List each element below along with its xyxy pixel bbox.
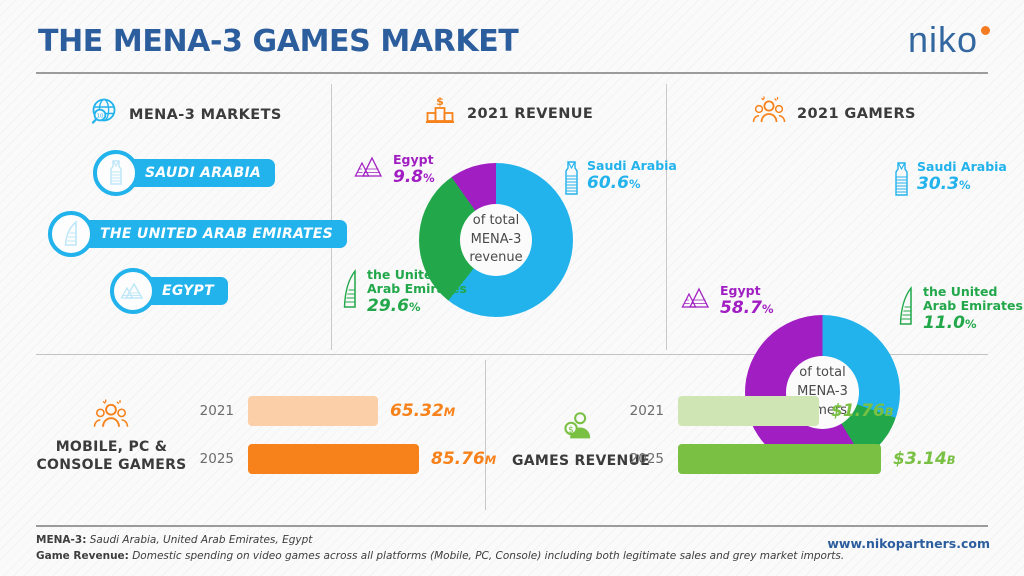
footer-line-1-text: Saudi Arabia, United Arab Emirates, Egyp… bbox=[86, 534, 312, 546]
gamers-legend-uae-name-2: Arab Emirates bbox=[923, 299, 1023, 313]
footer-url-link[interactable]: www.nikopartners.com bbox=[827, 536, 990, 551]
revenue-legend-uae-value: 29.6 bbox=[367, 296, 409, 316]
svg-text:10: 10 bbox=[97, 113, 104, 119]
gamers-bar-value-2025: 85.76 bbox=[431, 449, 485, 469]
gamers-bar-value-2021: 65.32 bbox=[390, 401, 444, 421]
revenue-center-line-1: of total bbox=[473, 212, 519, 231]
niko-logo: niko bbox=[908, 22, 990, 58]
orange-dot-icon bbox=[981, 26, 990, 35]
revenue-bar-track-2021 bbox=[678, 396, 819, 426]
gamers-bars-title-line-2: CONSOLE GAMERS bbox=[24, 456, 199, 474]
revenue-bar-row-2021: 2021 $1.76B bbox=[620, 396, 894, 426]
revenue-bar-unit-2025: B bbox=[947, 453, 956, 467]
revenue-legend-saudi-value: 60.6 bbox=[587, 173, 629, 193]
revenue-legend-uae-unit: % bbox=[409, 300, 421, 314]
gamers-bar-track-2021 bbox=[248, 396, 378, 426]
footer-line-1: MENA-3: Saudi Arabia, United Arab Emirat… bbox=[36, 534, 312, 546]
gamers-bar-year-2021: 2021 bbox=[190, 403, 234, 419]
revenue-bar-value-2025: $3.14 bbox=[893, 449, 947, 469]
revenue-legend-uae: the United Arab Emirates 29.6% bbox=[341, 268, 467, 317]
markets-panel-heading: 10 MENA-3 MARKETS bbox=[88, 97, 282, 132]
market-label-saudi-arabia: SAUDI ARABIA bbox=[123, 159, 275, 187]
gamers-bar-row-2021: 2021 65.32M bbox=[190, 396, 455, 426]
footer-line-2-text: Domestic spending on video games across … bbox=[129, 550, 844, 562]
pyramids-icon bbox=[352, 153, 386, 186]
header-divider bbox=[36, 72, 988, 74]
markets-panel-title: MENA-3 MARKETS bbox=[129, 107, 282, 123]
revenue-legend-egypt: Egypt 9.8% bbox=[352, 153, 435, 187]
gamers-legend-uae-unit: % bbox=[965, 317, 977, 331]
kingdom-tower-icon bbox=[563, 159, 580, 202]
revenue-bar-row-2025: 2025 $3.14B bbox=[620, 444, 956, 474]
revenue-legend-saudi-unit: % bbox=[629, 177, 641, 191]
gamers-legend-saudi-name: Saudi Arabia bbox=[917, 160, 1007, 174]
gamers-bars-icon bbox=[78, 398, 144, 437]
gamers-bar-track-2025 bbox=[248, 444, 419, 474]
footer-line-2-label: Game Revenue: bbox=[36, 550, 129, 562]
revenue-bar-value-2021: $1.76 bbox=[831, 401, 885, 421]
gamers-panel-heading: 2021 GAMERS bbox=[752, 95, 916, 132]
svg-text:$: $ bbox=[436, 95, 444, 108]
panel-divider-2 bbox=[666, 84, 667, 350]
gamers-legend-saudi-value: 30.3 bbox=[917, 174, 959, 194]
svg-text:$: $ bbox=[568, 425, 574, 435]
revenue-legend-egypt-name: Egypt bbox=[393, 153, 435, 167]
kingdom-tower-icon bbox=[93, 150, 139, 196]
footer-line-2: Game Revenue: Domestic spending on video… bbox=[36, 550, 844, 562]
gamers-legend-saudi-unit: % bbox=[959, 178, 971, 192]
burj-al-arab-icon bbox=[897, 285, 916, 334]
revenue-bar-year-2021: 2021 bbox=[620, 403, 664, 419]
gamers-bars-title-line-1: MOBILE, PC & bbox=[24, 438, 199, 456]
gamers-legend-egypt-name: Egypt bbox=[720, 284, 773, 298]
panel-divider-3 bbox=[485, 360, 486, 510]
gamers-legend-uae-name-1: the United bbox=[923, 285, 1023, 299]
revenue-legend-uae-name-2: Arab Emirates bbox=[367, 282, 467, 296]
gamers-legend-egypt-value: 58.7 bbox=[720, 298, 762, 318]
kingdom-tower-icon bbox=[893, 160, 910, 203]
market-item-egypt[interactable]: EGYPT bbox=[110, 268, 228, 314]
gamers-group-icon bbox=[752, 95, 786, 132]
gamers-legend-saudi: Saudi Arabia 30.3% bbox=[893, 160, 1007, 203]
revenue-panel-heading: $ 2021 REVENUE bbox=[424, 95, 593, 132]
revenue-center-line-3: revenue bbox=[469, 249, 522, 268]
revenue-legend-uae-name-1: the United bbox=[367, 268, 467, 282]
revenue-legend-egypt-unit: % bbox=[423, 171, 435, 185]
revenue-donut-center: of total MENA-3 revenue bbox=[460, 204, 532, 276]
revenue-center-line-2: MENA-3 bbox=[471, 231, 522, 250]
revenue-bar-year-2025: 2025 bbox=[620, 451, 664, 467]
podium-dollar-icon: $ bbox=[424, 95, 456, 132]
revenue-legend-saudi: Saudi Arabia 60.6% bbox=[563, 159, 677, 202]
logo-wordmark: niko bbox=[908, 22, 978, 58]
revenue-legend-saudi-name: Saudi Arabia bbox=[587, 159, 677, 173]
burj-al-arab-icon bbox=[48, 211, 94, 257]
revenue-legend-egypt-value: 9.8 bbox=[393, 167, 423, 187]
gamers-bar-unit-2021: M bbox=[444, 405, 455, 419]
market-item-saudi-arabia[interactable]: SAUDI ARABIA bbox=[93, 150, 275, 196]
gamers-bars-title: MOBILE, PC & CONSOLE GAMERS bbox=[24, 438, 199, 474]
pyramids-icon bbox=[679, 284, 713, 317]
footer-divider bbox=[36, 525, 988, 527]
footer-line-1-label: MENA-3: bbox=[36, 534, 86, 546]
gamers-panel-title: 2021 GAMERS bbox=[797, 106, 916, 122]
revenue-bar-track-2025 bbox=[678, 444, 881, 474]
gamers-bar-year-2025: 2025 bbox=[190, 451, 234, 467]
pyramids-icon bbox=[110, 268, 156, 314]
gamers-legend-egypt-unit: % bbox=[762, 302, 774, 316]
revenue-panel-title: 2021 REVENUE bbox=[467, 106, 593, 122]
revenue-bars-icon: $ bbox=[556, 408, 602, 447]
infographic-canvas: THE MENA-3 GAMES MARKET niko 10 MENA-3 M… bbox=[0, 0, 1024, 576]
globe-search-icon: 10 bbox=[88, 97, 118, 132]
gamers-legend-uae-value: 11.0 bbox=[923, 313, 965, 333]
page-title: THE MENA-3 GAMES MARKET bbox=[38, 24, 518, 59]
gamers-legend-egypt: Egypt 58.7% bbox=[679, 284, 773, 318]
market-item-uae[interactable]: THE UNITED ARAB EMIRATES bbox=[48, 211, 347, 257]
gamers-bar-unit-2025: M bbox=[485, 453, 496, 467]
burj-al-arab-icon bbox=[341, 268, 360, 317]
gamers-center-line-1: of total bbox=[799, 364, 845, 383]
gamers-legend-uae: the United Arab Emirates 11.0% bbox=[897, 285, 1023, 334]
gamers-bar-row-2025: 2025 85.76M bbox=[190, 444, 496, 474]
revenue-bar-unit-2021: B bbox=[885, 405, 894, 419]
market-label-uae: THE UNITED ARAB EMIRATES bbox=[78, 220, 347, 248]
